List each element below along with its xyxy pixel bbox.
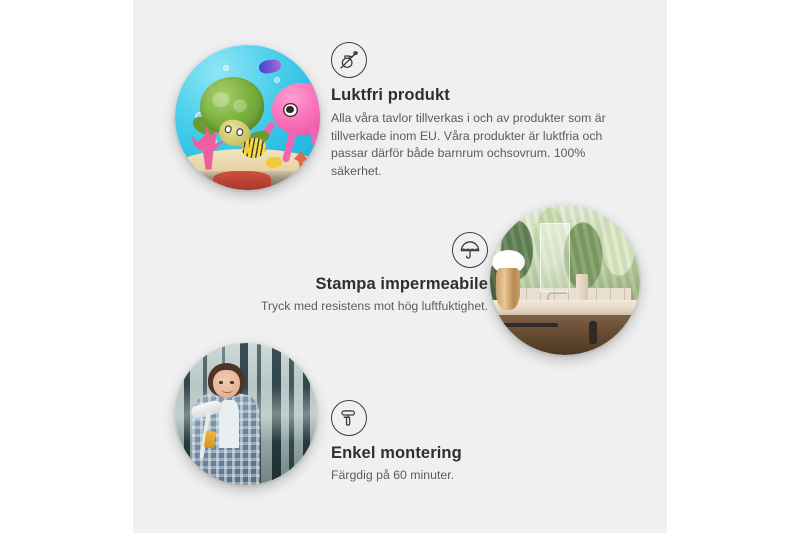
forest-scene <box>175 343 317 485</box>
soap-bottle <box>576 274 588 303</box>
bubble-icon <box>274 77 280 83</box>
feature-body: Alla våra tavlor tillverkas i och av pro… <box>331 110 631 181</box>
image-ocean-kids-mural <box>175 45 320 190</box>
no-spray-bottle-icon <box>331 42 367 78</box>
feature-title: Enkel montering <box>331 444 611 463</box>
feature-easy-mounting: Enkel montering Färgdig på 60 minuter. <box>331 400 611 485</box>
woman-smile <box>222 387 233 393</box>
wooden-vase <box>496 268 520 310</box>
woman-inner-shirt <box>219 400 239 448</box>
feature-body: Färgdig på 60 minuter. <box>331 467 611 485</box>
feature-body: Tryck med resistens mot hög luftfuktighe… <box>203 298 488 316</box>
ocean-seabed-strip <box>175 171 320 190</box>
content-stage: Luktfri produkt Alla våra tavlor tillver… <box>133 0 667 533</box>
bathroom-scene <box>490 205 640 355</box>
octopus-eye <box>283 103 298 118</box>
paint-roller-icon <box>331 400 367 436</box>
page-root: Luktfri produkt Alla våra tavlor tillver… <box>0 0 800 533</box>
vanity-cabinet <box>493 315 640 356</box>
feature-title: Stampa impermeabile <box>203 275 488 294</box>
feature-title: Luktfri produkt <box>331 86 631 105</box>
ocean-scene <box>175 45 320 190</box>
paint-roller-grip <box>204 430 216 448</box>
image-woman-paint-roller-forest <box>175 343 317 485</box>
image-bathroom-leaf-wallpaper <box>490 205 640 355</box>
bathroom-mirror <box>540 223 570 292</box>
umbrella-icon <box>452 232 488 268</box>
feature-odour-free: Luktfri produkt Alla våra tavlor tillver… <box>331 42 631 181</box>
feature-waterproof-print: Stampa impermeabile Tryck med resistens … <box>203 232 488 316</box>
